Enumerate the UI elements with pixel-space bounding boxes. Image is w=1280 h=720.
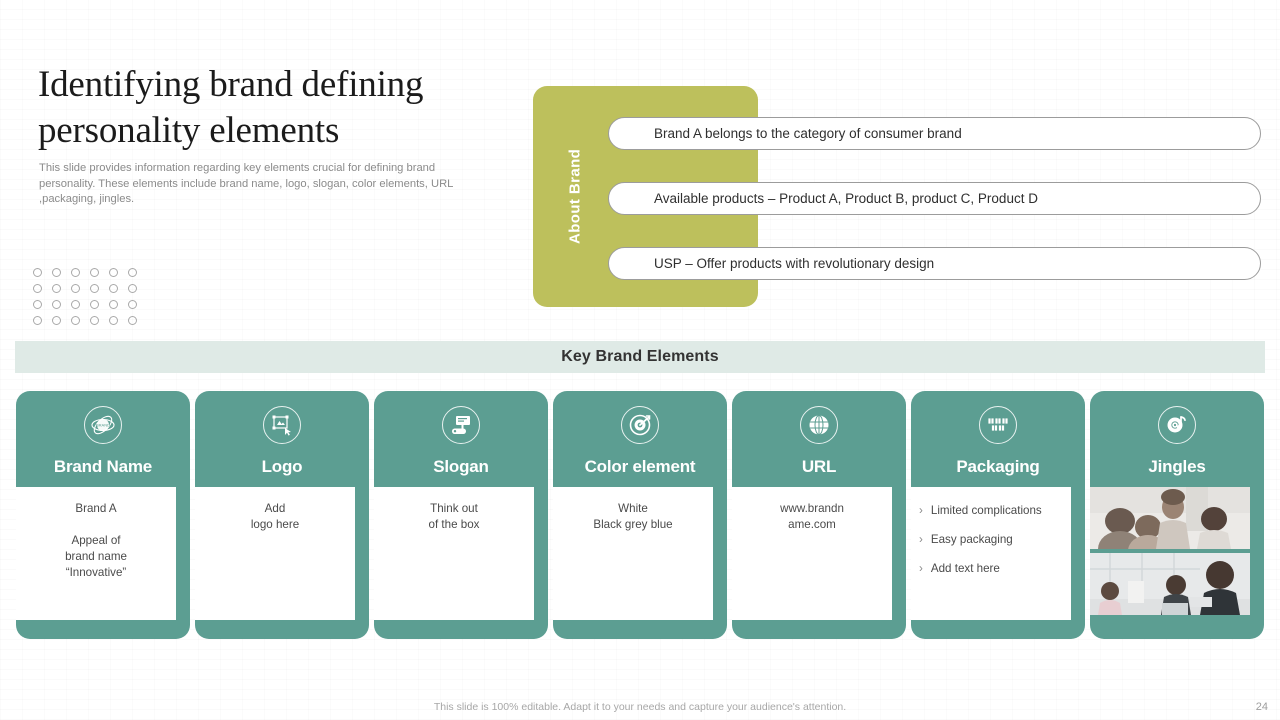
dot	[128, 316, 137, 325]
page-number: 24	[1256, 701, 1268, 713]
globe-icon	[732, 406, 906, 444]
dot	[90, 284, 99, 293]
dot	[52, 268, 61, 277]
image-crop-icon	[195, 406, 369, 444]
card-body: › Limited complications › Easy packaging…	[911, 487, 1071, 620]
list-item: › Add text here	[919, 561, 1065, 576]
team-meeting-photo	[1090, 487, 1250, 549]
card-body	[1090, 487, 1250, 620]
dot	[71, 284, 80, 293]
chevron-right-icon: ›	[919, 503, 923, 518]
card-text: Think out of the box	[382, 501, 526, 533]
dot	[128, 284, 137, 293]
dot	[90, 300, 99, 309]
chevron-right-icon: ›	[919, 532, 923, 547]
card-title: Logo	[195, 457, 369, 477]
list-item: › Limited complications	[919, 503, 1065, 518]
card-title: Packaging	[911, 457, 1085, 477]
dot	[33, 300, 42, 309]
card-url[interactable]: URL www.brandn ame.com	[732, 391, 906, 639]
page-title: Identifying brand defining personality e…	[38, 62, 508, 154]
card-packaging[interactable]: Packaging › Limited complications › Easy…	[911, 391, 1085, 639]
card-brand-name[interactable]: BRAND Brand Name Brand A Appeal of brand…	[16, 391, 190, 639]
about-brand-rows: Brand A belongs to the category of consu…	[608, 117, 1261, 280]
about-brand-label: About Brand	[560, 86, 590, 307]
dot	[71, 268, 80, 277]
dot	[128, 300, 137, 309]
card-text: Add logo here	[203, 501, 347, 533]
card-logo[interactable]: Logo Add logo here	[195, 391, 369, 639]
brand-elements-card-row: BRAND Brand Name Brand A Appeal of brand…	[16, 391, 1264, 639]
dot	[90, 316, 99, 325]
page-subtitle: This slide provides information regardin…	[39, 161, 479, 208]
card-text: www.brandn ame.com	[740, 501, 884, 533]
card-body: Brand A Appeal of brand name “Innovative…	[16, 487, 176, 620]
dot	[52, 300, 61, 309]
dot	[109, 284, 118, 293]
boxes-icon	[911, 406, 1085, 444]
list-item-label: Limited complications	[931, 503, 1042, 518]
card-title: Jingles	[1090, 457, 1264, 477]
card-jingles[interactable]: Jingles	[1090, 391, 1264, 639]
dot	[52, 316, 61, 325]
card-title: Brand Name	[16, 457, 190, 477]
music-note-icon	[1090, 406, 1264, 444]
about-brand-row[interactable]: USP – Offer products with revolutionary …	[608, 247, 1261, 280]
dot	[109, 300, 118, 309]
target-icon	[553, 406, 727, 444]
key-brand-elements-band: Key Brand Elements	[15, 341, 1265, 373]
about-brand-row[interactable]: Brand A belongs to the category of consu…	[608, 117, 1261, 150]
card-title: Slogan	[374, 457, 548, 477]
card-text: White Black grey blue	[561, 501, 705, 533]
brand-atom-icon: BRAND	[16, 406, 190, 444]
dot	[33, 316, 42, 325]
list-item-label: Add text here	[931, 561, 1000, 576]
dot	[90, 268, 99, 277]
office-discussion-photo	[1090, 553, 1250, 615]
dot	[109, 268, 118, 277]
list-item: › Easy packaging	[919, 532, 1065, 547]
card-color-element[interactable]: Color element White Black grey blue	[553, 391, 727, 639]
card-slogan[interactable]: Slogan Think out of the box	[374, 391, 548, 639]
dot	[33, 268, 42, 277]
dot	[128, 268, 137, 277]
decorative-dot-grid	[33, 264, 147, 328]
card-title: Color element	[553, 457, 727, 477]
list-item-label: Easy packaging	[931, 532, 1013, 547]
dot	[109, 316, 118, 325]
card-body: White Black grey blue	[553, 487, 713, 620]
dot	[52, 284, 61, 293]
card-title: URL	[732, 457, 906, 477]
card-text: Brand A	[24, 501, 168, 517]
dot	[33, 284, 42, 293]
slide-canvas: Identifying brand defining personality e…	[0, 0, 1280, 720]
card-body: Add logo here	[195, 487, 355, 620]
card-body: Think out of the box	[374, 487, 534, 620]
chevron-right-icon: ›	[919, 561, 923, 576]
dot	[71, 316, 80, 325]
card-text: Appeal of brand name “Innovative”	[24, 533, 168, 581]
speech-sign-icon	[374, 406, 548, 444]
footer-note: This slide is 100% editable. Adapt it to…	[0, 701, 1280, 713]
dot	[71, 300, 80, 309]
svg-text:BRAND: BRAND	[96, 423, 110, 428]
card-body: www.brandn ame.com	[732, 487, 892, 620]
about-brand-row[interactable]: Available products – Product A, Product …	[608, 182, 1261, 215]
